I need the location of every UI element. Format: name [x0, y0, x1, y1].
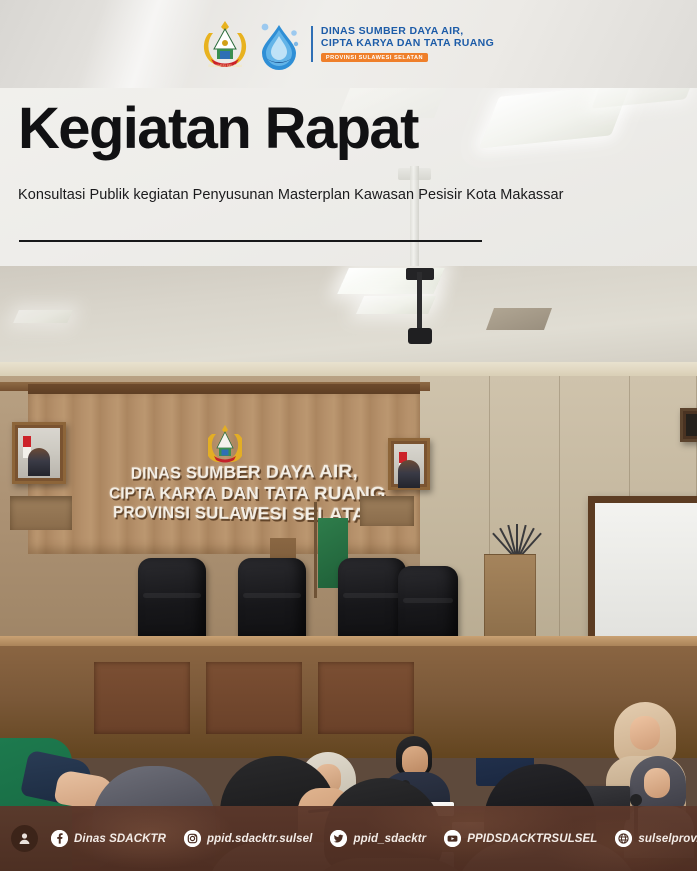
- organization-header: SULAWESI SELATAN DINAS SUMBER DAYA AIR, …: [0, 0, 697, 88]
- poster-root: SULAWESI SELATAN DINAS SUMBER DAYA AIR, …: [0, 0, 697, 871]
- framed-portrait-left: [12, 422, 66, 484]
- twitter-icon: [330, 830, 347, 847]
- executive-chair-2: [238, 558, 306, 642]
- youtube-icon: [444, 830, 461, 847]
- framed-portrait-right: [680, 408, 697, 442]
- organization-name: DINAS SUMBER DAYA AIR, CIPTA KARYA DAN T…: [311, 26, 494, 63]
- province-badge: PROVINSI SULAWESI SELATAN: [321, 53, 428, 63]
- executive-chair-1: [138, 558, 206, 642]
- page-subtitle: Konsultasi Publik kegiatan Penyusunan Ma…: [18, 183, 628, 207]
- desk-panel-2: [206, 662, 302, 734]
- youtube-handle: PPIDSDACKTRSULSEL: [467, 833, 597, 845]
- social-link-facebook[interactable]: Dinas SDACKTR: [51, 830, 166, 847]
- page-title: Kegiatan Rapat: [18, 98, 418, 160]
- water-drop-icon: [256, 18, 302, 70]
- projector-head: [408, 328, 432, 344]
- main-meeting-photo: DINAS SUMBER DAYA AIR, CIPTA KARYA DAN T…: [0, 266, 697, 871]
- ceiling-light-2: [356, 296, 436, 314]
- ceiling-light-3: [13, 310, 73, 323]
- desk-panel-1: [94, 662, 190, 734]
- website-globe-icon: [615, 830, 632, 847]
- ghost-projector-pole: [410, 166, 419, 266]
- wall-niche-left: [10, 496, 72, 530]
- ghost-ceiling-light-2: [591, 88, 697, 109]
- logo-group: SULAWESI SELATAN DINAS SUMBER DAYA AIR, …: [203, 18, 494, 70]
- social-links: Dinas SDACKTR ppid.sdacktr.sulsel: [51, 830, 697, 847]
- whiteboard: [588, 496, 697, 646]
- social-footer: Dinas SDACKTR ppid.sdacktr.sulsel: [0, 806, 697, 871]
- executive-chair-4: [398, 566, 458, 642]
- facebook-handle: Dinas SDACKTR: [74, 833, 166, 845]
- flag-pole: [314, 502, 317, 598]
- framed-portrait-center: [388, 438, 430, 490]
- desk-panel-3: [318, 662, 414, 734]
- executive-chair-3: [338, 558, 406, 642]
- title-divider: [19, 240, 482, 242]
- org-line-1: DINAS SUMBER DAYA AIR,: [321, 26, 494, 38]
- instagram-handle: ppid.sdacktr.sulsel: [207, 833, 312, 845]
- person-icon: [11, 825, 38, 852]
- twitter-handle: ppid_sdacktr: [353, 833, 426, 845]
- wall-crest-icon: [208, 424, 242, 464]
- social-link-youtube[interactable]: PPIDSDACKTRSULSEL: [444, 830, 597, 847]
- south-sulawesi-crest-icon: SULAWESI SELATAN: [203, 19, 247, 69]
- social-link-website[interactable]: sulselprov.go.id: [615, 830, 697, 847]
- org-line-2: CIPTA KARYA DAN TATA RUANG: [321, 38, 494, 50]
- facebook-icon: [51, 830, 68, 847]
- website-handle: sulselprov.go.id: [638, 833, 697, 845]
- wall-sign-line-1: DINAS SUMBER DAYA AIR,: [91, 459, 409, 483]
- social-link-instagram[interactable]: ppid.sdacktr.sulsel: [184, 830, 312, 847]
- wall-niche-center: [360, 496, 414, 526]
- ceiling-vent: [486, 308, 552, 330]
- svg-text:SULAWESI SELATAN: SULAWESI SELATAN: [208, 64, 242, 68]
- instagram-icon: [184, 830, 201, 847]
- microphone-head-right: [630, 794, 642, 806]
- social-link-twitter[interactable]: ppid_sdacktr: [330, 830, 426, 847]
